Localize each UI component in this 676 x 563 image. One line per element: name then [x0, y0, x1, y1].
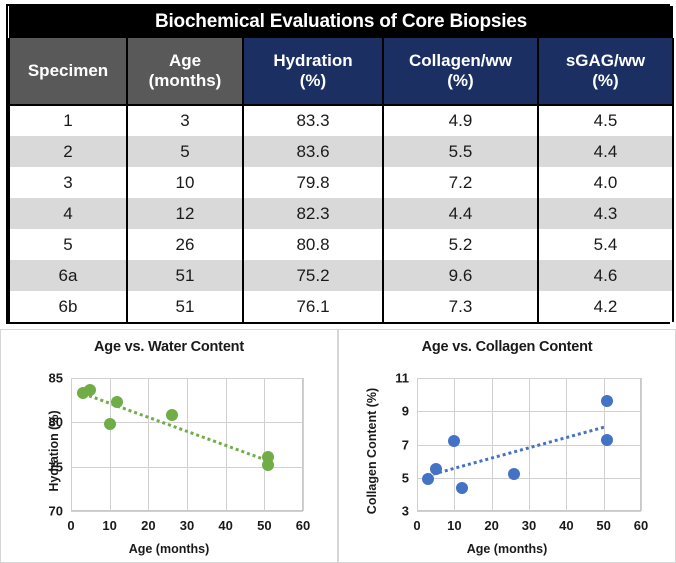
column-header-collagen-line2: (%) — [384, 71, 537, 91]
table-row: 1383.34.94.5 — [9, 105, 673, 136]
y-axis-tick-label: 7 — [371, 437, 409, 452]
table-cell-specimen: 1 — [9, 105, 127, 136]
table-cell-collagen: 9.6 — [383, 260, 538, 291]
column-header-sgag-line1: sGAG/ww — [539, 51, 672, 71]
table-cell-sgag: 5.4 — [538, 229, 673, 260]
chart-age-vs-collagen-content: Age vs. Collagen Content Collagen Conten… — [338, 329, 676, 563]
gridline-horizontal — [417, 511, 641, 512]
x-axis-tick-label: 50 — [257, 518, 271, 533]
gridline-vertical — [303, 378, 304, 511]
data-point — [166, 409, 178, 421]
data-point — [601, 395, 613, 407]
gridline-vertical — [264, 378, 265, 511]
column-header-age: Age (months) — [127, 38, 243, 105]
gridline-vertical — [71, 378, 72, 511]
table-cell-hydration: 82.3 — [243, 198, 383, 229]
gridline-vertical — [417, 378, 418, 511]
data-point — [430, 463, 442, 475]
table-header: Biochemical Evaluations of Core Biopsies… — [9, 6, 673, 105]
figure-root: Biochemical Evaluations of Core Biopsies… — [0, 0, 676, 563]
table-title: Biochemical Evaluations of Core Biopsies — [9, 6, 673, 38]
table-row: 6b5176.17.34.2 — [9, 291, 673, 322]
gridline-vertical — [566, 378, 567, 511]
data-point — [601, 434, 613, 446]
data-table: Biochemical Evaluations of Core Biopsies… — [8, 6, 674, 322]
column-header-age-line2: (months) — [128, 71, 242, 91]
table-cell-collagen: 4.4 — [383, 198, 538, 229]
y-axis-tick-label: 11 — [371, 371, 409, 386]
data-point — [456, 482, 468, 494]
y-axis-tick-label: 75 — [25, 459, 63, 474]
x-axis-tick-label: 40 — [218, 518, 232, 533]
gridline-vertical — [187, 378, 188, 511]
table-cell-age: 26 — [127, 229, 243, 260]
table-cell-hydration: 83.3 — [243, 105, 383, 136]
column-header-hydration: Hydration (%) — [243, 38, 383, 105]
table-cell-collagen: 5.5 — [383, 136, 538, 167]
plot-area — [71, 378, 303, 511]
gridline-horizontal — [71, 511, 303, 512]
x-axis-tick-label: 20 — [141, 518, 155, 533]
table-cell-collagen: 4.9 — [383, 105, 538, 136]
biochemical-table: Biochemical Evaluations of Core Biopsies… — [6, 4, 670, 324]
table-cell-hydration: 83.6 — [243, 136, 383, 167]
y-axis-tick-label: 80 — [25, 415, 63, 430]
x-axis-tick-label: 30 — [180, 518, 194, 533]
chart-title: Age vs. Water Content — [1, 339, 337, 355]
x-axis-tick-label: 10 — [102, 518, 116, 533]
table-cell-collagen: 5.2 — [383, 229, 538, 260]
x-axis-tick-label: 50 — [596, 518, 610, 533]
table-cell-specimen: 5 — [9, 229, 127, 260]
x-axis-tick-label: 20 — [484, 518, 498, 533]
table-cell-specimen: 6b — [9, 291, 127, 322]
column-header-row: Specimen Age (months) Hydration (%) Coll… — [9, 38, 673, 105]
column-header-hydration-line1: Hydration — [244, 51, 382, 71]
table-cell-sgag: 4.4 — [538, 136, 673, 167]
gridline-vertical — [110, 378, 111, 511]
x-axis-tick-label: 40 — [559, 518, 573, 533]
table-title-row: Biochemical Evaluations of Core Biopsies — [9, 6, 673, 38]
y-axis-tick-label: 9 — [371, 404, 409, 419]
table-cell-age: 3 — [127, 105, 243, 136]
table-cell-collagen: 7.3 — [383, 291, 538, 322]
table-cell-age: 51 — [127, 260, 243, 291]
column-header-sgag-line2: (%) — [539, 71, 672, 91]
data-point — [104, 418, 116, 430]
data-point — [262, 451, 274, 463]
table-row: 41282.34.44.3 — [9, 198, 673, 229]
column-header-sgag: sGAG/ww (%) — [538, 38, 673, 105]
table-cell-specimen: 3 — [9, 167, 127, 198]
chart-title: Age vs. Collagen Content — [339, 339, 675, 355]
table-cell-specimen: 6a — [9, 260, 127, 291]
column-header-collagen-line1: Collagen/ww — [384, 51, 537, 71]
table-cell-sgag: 4.6 — [538, 260, 673, 291]
data-point — [508, 468, 520, 480]
x-axis-tick-label: 10 — [447, 518, 461, 533]
data-point — [111, 396, 123, 408]
chart-age-vs-water-content: Age vs. Water Content Hydration (%) Age … — [0, 329, 338, 563]
x-axis-tick-label: 0 — [67, 518, 74, 533]
plot-area — [417, 378, 641, 511]
chart-x-axis-label: Age (months) — [1, 542, 337, 556]
data-point — [448, 435, 460, 447]
chart-x-axis-label: Age (months) — [339, 542, 675, 556]
y-axis-tick-label: 85 — [25, 371, 63, 386]
x-axis-tick-label: 60 — [634, 518, 648, 533]
y-axis-tick-label: 70 — [25, 504, 63, 519]
y-axis-tick-label: 3 — [371, 504, 409, 519]
table-cell-collagen: 7.2 — [383, 167, 538, 198]
gridline-vertical — [529, 378, 530, 511]
x-axis-tick-label: 30 — [522, 518, 536, 533]
data-point — [422, 473, 434, 485]
table-cell-hydration: 79.8 — [243, 167, 383, 198]
column-header-specimen: Specimen — [9, 38, 127, 105]
table-cell-age: 10 — [127, 167, 243, 198]
table-cell-age: 5 — [127, 136, 243, 167]
table-row: 52680.85.25.4 — [9, 229, 673, 260]
table-cell-specimen: 4 — [9, 198, 127, 229]
gridline-vertical — [492, 378, 493, 511]
table-cell-age: 51 — [127, 291, 243, 322]
y-axis-tick-label: 5 — [371, 470, 409, 485]
gridline-vertical — [148, 378, 149, 511]
table-cell-hydration: 75.2 — [243, 260, 383, 291]
table-row: 2583.65.54.4 — [9, 136, 673, 167]
table-cell-sgag: 4.3 — [538, 198, 673, 229]
x-axis-tick-label: 60 — [296, 518, 310, 533]
table-cell-hydration: 76.1 — [243, 291, 383, 322]
table-cell-sgag: 4.0 — [538, 167, 673, 198]
data-point — [84, 384, 96, 396]
gridline-vertical — [641, 378, 642, 511]
column-header-age-line1: Age — [128, 51, 242, 71]
table-row: 6a5175.29.64.6 — [9, 260, 673, 291]
column-header-specimen-label: Specimen — [28, 61, 108, 80]
x-axis-tick-label: 0 — [413, 518, 420, 533]
table-cell-sgag: 4.5 — [538, 105, 673, 136]
table-cell-sgag: 4.2 — [538, 291, 673, 322]
charts-row: Age vs. Water Content Hydration (%) Age … — [0, 329, 676, 563]
table-cell-hydration: 80.8 — [243, 229, 383, 260]
table-body: 1383.34.94.52583.65.54.431079.87.24.0412… — [9, 105, 673, 322]
table-row: 31079.87.24.0 — [9, 167, 673, 198]
table-cell-specimen: 2 — [9, 136, 127, 167]
column-header-collagen: Collagen/ww (%) — [383, 38, 538, 105]
column-header-hydration-line2: (%) — [244, 71, 382, 91]
table-cell-age: 12 — [127, 198, 243, 229]
